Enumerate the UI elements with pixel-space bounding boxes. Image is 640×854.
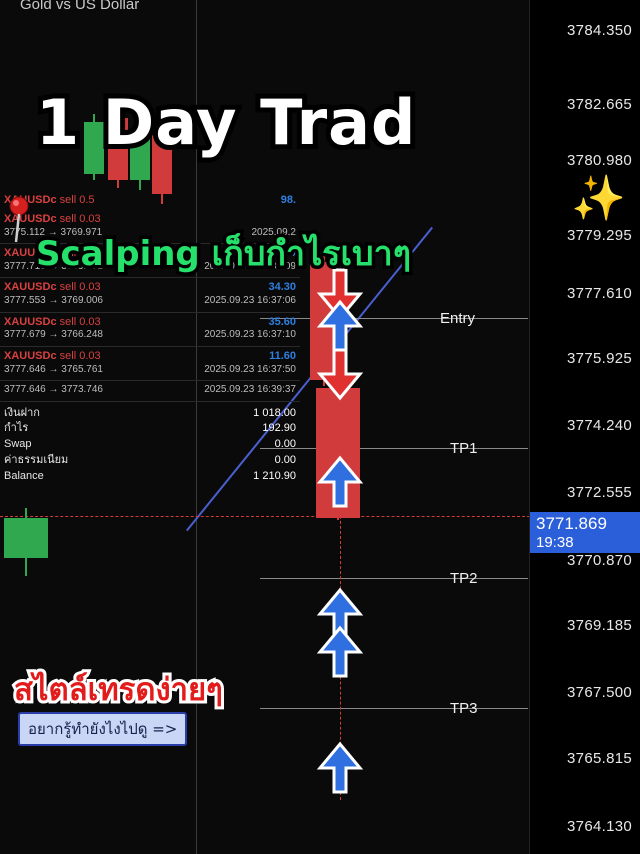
table-row[interactable]: XAUUSDc sell 0.03 34.30 3777.553 → 3769.… <box>0 279 300 310</box>
summary-label: เงินฝาก <box>4 407 40 421</box>
level-label-tp2: TP2 <box>450 570 478 587</box>
summary-row: Swap 0.00 <box>0 437 300 453</box>
trade-side: sell 0.03 <box>60 350 101 362</box>
crosshair-horizontal <box>0 516 530 517</box>
level-label-entry: Entry <box>440 310 475 327</box>
trade-prices: 3777.646 → 3773.746 <box>4 384 103 397</box>
price-tick: 3772.555 <box>567 484 632 501</box>
buy-arrow-tp1 <box>312 452 368 508</box>
level-line-entry <box>260 318 528 319</box>
price-tick: 3765.815 <box>567 750 632 767</box>
sell-arrow-mid <box>312 348 368 404</box>
summary-row: กำไร 192.90 <box>0 421 300 437</box>
trade-side: sell 0.03 <box>60 281 101 293</box>
trade-side: sell 0.5 <box>60 194 95 206</box>
price-tick: 3780.980 <box>567 152 632 169</box>
pin-icon <box>6 196 36 249</box>
trade-side: sell 0.03 <box>60 213 101 225</box>
price-tick: 3767.500 <box>567 684 632 701</box>
trade-time: 2025.09.23 16:37:06 <box>204 295 296 308</box>
buy-arrow-entry <box>312 296 368 352</box>
price-tick: 3784.350 <box>567 22 632 39</box>
trade-time: 2025.09.23 16:37:10 <box>204 329 296 342</box>
trade-symbol: XAUUSDc <box>4 350 57 362</box>
price-tick: 3777.610 <box>567 285 632 302</box>
trade-prices: 3777.553 → 3769.006 <box>4 295 103 308</box>
overlay-title-wrap: 1 Day Trad <box>36 86 416 159</box>
current-price-value: 3771.869 <box>536 514 634 534</box>
summary-value: 1 210.90 <box>253 470 296 484</box>
price-tick: 3770.870 <box>567 552 632 569</box>
trade-symbol: XAUUSDc <box>4 281 57 293</box>
price-tick: 3782.665 <box>567 96 632 113</box>
summary-label: Swap <box>4 438 32 452</box>
summary-value: 0.00 <box>275 438 296 452</box>
price-tick: 3769.185 <box>567 617 632 634</box>
summary-value: 1 018.00 <box>253 407 296 421</box>
current-price-time: 19:38 <box>536 534 634 551</box>
summary-value: 192.90 <box>262 422 296 436</box>
trade-profit: 35.60 <box>268 316 296 330</box>
summary-label: ค่าธรรมเนียม <box>4 454 68 468</box>
buy-arrow-tp2b <box>312 622 368 678</box>
price-axis[interactable]: 3784.350 3782.665 3780.980 3779.295 3777… <box>530 0 640 854</box>
page-title: 1 Day Trad <box>36 86 416 159</box>
summary-label: กำไร <box>4 422 28 436</box>
account-summary: เงินฝาก 1 018.00 กำไร 192.90 Swap 0.00 ค… <box>0 406 300 485</box>
table-row[interactable]: XAUUSDc sell 0.5 98. <box>0 192 300 211</box>
level-label-tp1: TP1 <box>450 440 478 457</box>
summary-row: Balance 1 210.90 <box>0 469 300 485</box>
buy-arrow-tp3 <box>312 738 368 794</box>
price-tick: 3764.130 <box>567 818 632 835</box>
sparkle-icon: ✨ <box>571 172 626 224</box>
divider <box>0 312 300 313</box>
level-line-tp2 <box>260 578 528 579</box>
trade-profit: 34.30 <box>268 281 296 295</box>
trade-time: 2025.09.23 16:37:50 <box>204 364 296 377</box>
summary-label: Balance <box>4 470 44 484</box>
cta-button[interactable]: อยากรู้ทำยังไงไปดู => <box>18 712 187 746</box>
instrument-title: Gold vs US Dollar <box>20 0 139 13</box>
summary-row: เงินฝาก 1 018.00 <box>0 406 300 422</box>
divider <box>0 346 300 347</box>
trading-chart-screenshot: Gold vs US Dollar Entry TP1 TP2 TP3 <box>0 0 640 854</box>
level-line-tp1 <box>260 448 528 449</box>
price-tick: 3779.295 <box>567 227 632 244</box>
divider <box>0 401 300 402</box>
price-tick: 3775.925 <box>567 350 632 367</box>
table-row[interactable]: XAUUSDc sell 0.03 35.60 3777.679 → 3766.… <box>0 314 300 345</box>
overlay-subtitle: Scalping เก็บกำไรเบาๆ <box>36 226 411 280</box>
level-label-tp3: TP3 <box>450 700 478 717</box>
trade-time: 2025.09.23 16:39:37 <box>204 384 296 397</box>
level-line-tp3 <box>260 708 528 709</box>
overlay-style-text: สไตล์เทรดง่ายๆ <box>14 664 223 714</box>
trade-prices: 3777.646 → 3765.761 <box>4 364 103 377</box>
table-row[interactable]: XAUUSDc sell 0.03 11.60 3777.646 → 3765.… <box>0 348 300 379</box>
current-price-tag[interactable]: 3771.869 19:38 <box>530 512 640 553</box>
trade-prices: 3777.679 → 3766.248 <box>4 329 103 342</box>
trade-profit: 98. <box>281 194 296 208</box>
price-tick: 3774.240 <box>567 417 632 434</box>
table-row[interactable]: 3777.646 → 3773.746 2025.09.23 16:39:37 <box>0 382 300 400</box>
trade-profit: 11.60 <box>269 350 296 364</box>
trade-side: sell 0.03 <box>60 316 101 328</box>
divider <box>0 380 300 381</box>
summary-row: ค่าธรรมเนียม 0.00 <box>0 453 300 469</box>
summary-value: 0.00 <box>275 454 296 468</box>
trade-symbol: XAUUSDc <box>4 316 57 328</box>
